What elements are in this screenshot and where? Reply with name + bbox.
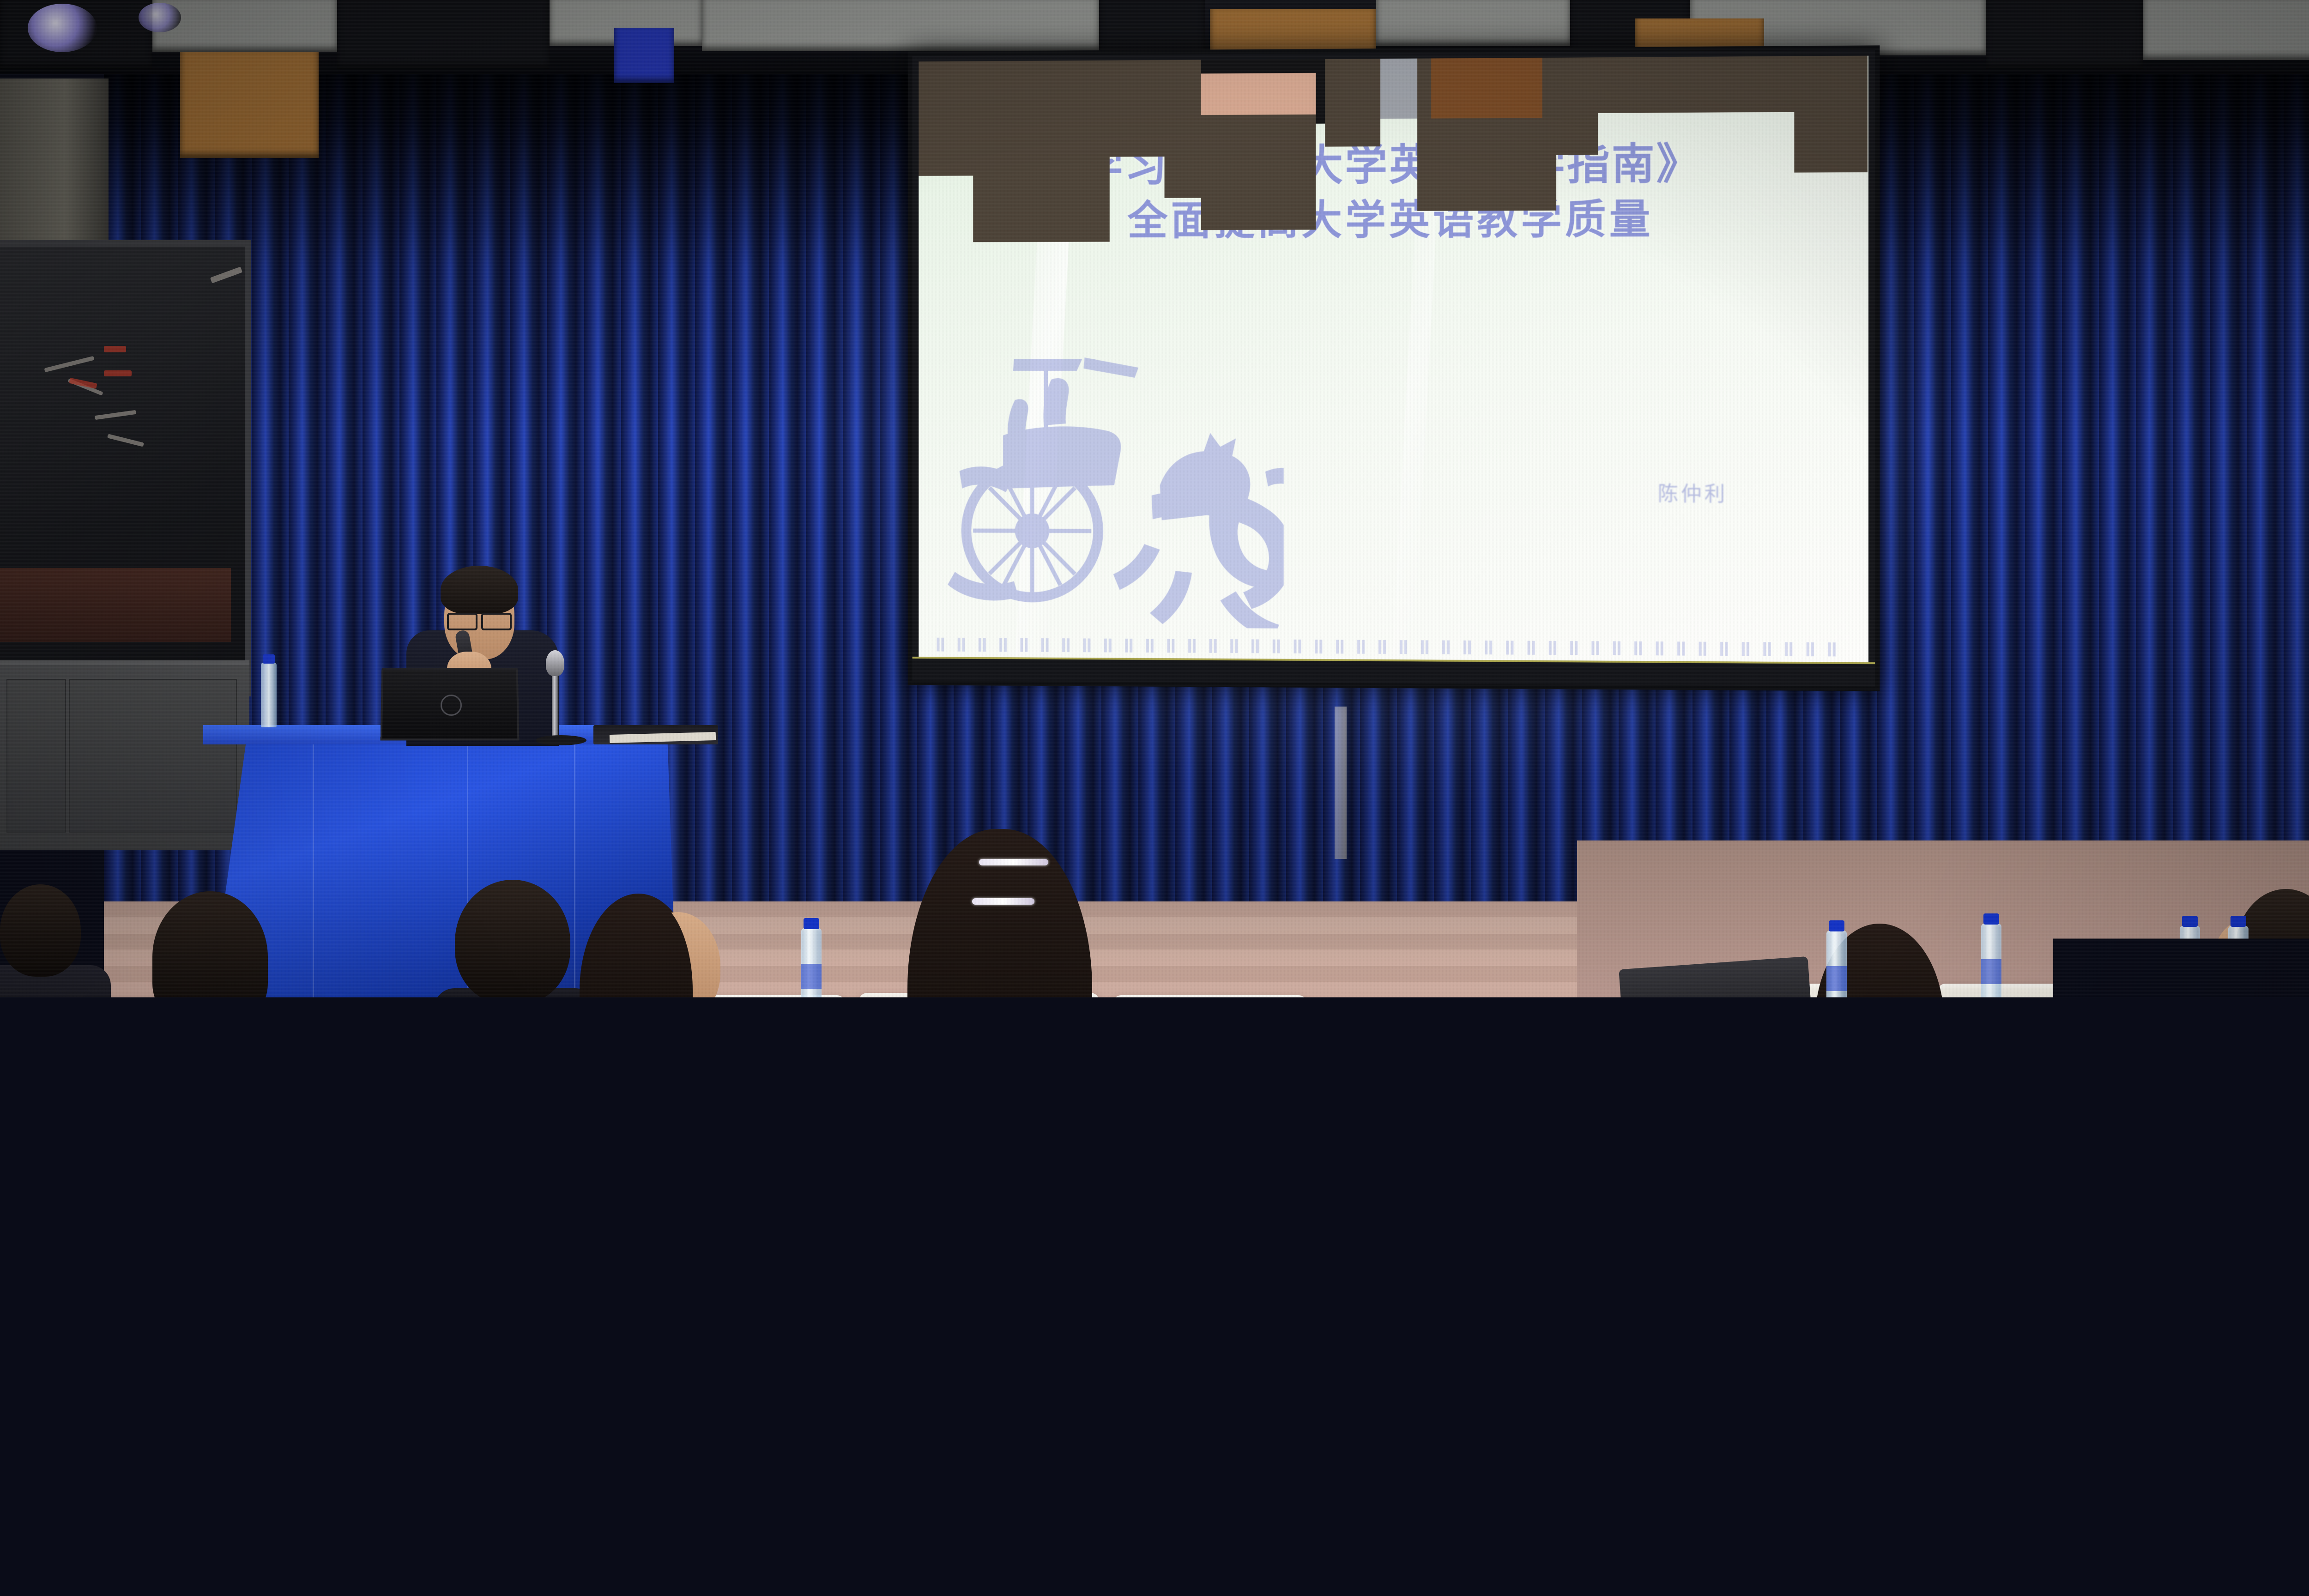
seat <box>2230 1286 2309 1469</box>
student-desk <box>1773 1469 1986 1596</box>
water-bottle-icon <box>2228 926 2249 1007</box>
glasses-icon <box>447 613 512 627</box>
projected-slide: 学习贯彻《大学英语教学指南》 全面提高大学英语教学质量 <box>919 56 1868 663</box>
ceiling-truss-segment <box>1986 0 2143 69</box>
spotlight-icon <box>28 4 97 52</box>
audience-hair <box>0 1376 102 1596</box>
glasses-icon <box>2217 951 2267 962</box>
water-bottle-icon <box>2180 926 2200 1007</box>
hair-clip-icon <box>972 898 1034 905</box>
ceiling-truss-segment <box>337 0 550 69</box>
wall-wood-strip <box>0 568 231 642</box>
slide-presenter-name: 陈仲利 <box>1658 477 1728 507</box>
seat <box>1843 1288 2226 1469</box>
water-bottle-icon <box>1981 924 2001 1004</box>
spotlight-icon <box>139 3 181 32</box>
microphone-base <box>536 735 586 745</box>
ceiling-panel <box>614 28 674 83</box>
ceiling-truss-segment <box>1376 0 1570 46</box>
lecture-hall-photo: 学习贯彻《大学英语教学指南》 全面提高大学英语教学质量 <box>0 0 2309 1596</box>
water-bottle-icon <box>1826 931 1847 1011</box>
seat: ♡ <box>139 1078 416 1221</box>
seat <box>1455 1288 1838 1469</box>
audience-head <box>455 880 570 1004</box>
ceiling-truss-segment <box>152 0 337 52</box>
audience-hair <box>907 829 1092 1161</box>
dell-laptop-icon <box>381 668 520 740</box>
microphone-icon <box>546 650 564 676</box>
hair-clip-icon <box>48 1083 92 1088</box>
water-bottle-icon <box>801 928 822 1009</box>
seat <box>951 1302 1081 1475</box>
audience-head <box>0 884 81 977</box>
water-bottle-icon <box>656 1122 681 1219</box>
seat <box>1995 1473 2309 1596</box>
screen-bottom-bar <box>913 657 1875 687</box>
audience-head <box>416 1173 573 1353</box>
audience-hair <box>600 898 693 1083</box>
slide-border-pattern <box>937 638 1850 657</box>
ceiling-truss-segment <box>2143 0 2309 60</box>
backpack-icon <box>1619 956 1812 1039</box>
curtain-gap <box>1335 707 1347 859</box>
bronze-horse-chariot-emblem <box>946 333 1283 629</box>
hair-clip-icon <box>979 859 1048 865</box>
storage-cabinet <box>0 660 249 850</box>
water-bottle-icon <box>580 1127 604 1219</box>
audience-head <box>490 1404 633 1596</box>
audience-head <box>406 1023 545 1180</box>
audience-hair <box>0 1032 139 1231</box>
audience-head <box>152 891 268 1023</box>
seat <box>2189 1060 2309 1219</box>
water-bottle-icon <box>261 663 277 727</box>
audience-hair <box>134 1228 411 1552</box>
projection-screen: 学习贯彻《大学英语教学指南》 全面提高大学英语教学质量 <box>908 45 1880 691</box>
audience-hair <box>1806 1004 1967 1221</box>
ceiling-truss-segment <box>702 0 1099 51</box>
ceiling-baffle <box>180 52 319 158</box>
